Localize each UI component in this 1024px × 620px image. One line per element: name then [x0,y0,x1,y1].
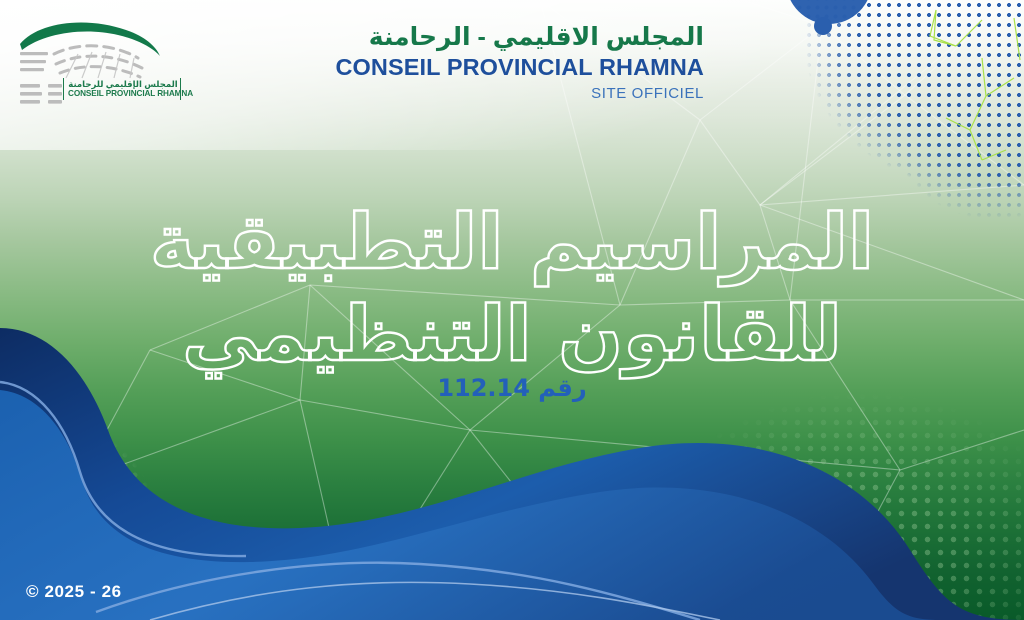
hero-subtitle-law-number: رقم 112.14 [0,374,1024,402]
header-title-block: المجلس الاقليمي - الرحامنة CONSEIL PROVI… [335,22,704,104]
logo-arabic-name: المجلس الإقليمي للرحامنة [68,79,178,89]
copyright-text: © 2025 - 26 [26,582,122,602]
hero-title-line1: المراسيم التطبيقية [0,196,1024,288]
header-title-arabic: المجلس الاقليمي - الرحامنة [335,22,704,52]
logo[interactable]: المجلس الإقليمي للرحامنة CONSEIL PROVINC… [8,14,178,110]
poster-canvas: المجلس الإقليمي للرحامنة CONSEIL PROVINC… [0,0,1024,620]
logo-wordmark: المجلس الإقليمي للرحامنة CONSEIL PROVINC… [63,78,181,100]
hero-title-block: المراسيم التطبيقية للقانون التنظيمي رقم … [0,196,1024,402]
site-header: المجلس الإقليمي للرحامنة CONSEIL PROVINC… [0,0,1024,125]
logo-french-name: CONSEIL PROVINCIAL RHAMNA [68,89,178,99]
hero-title-line2: للقانون التنظيمي [0,288,1024,380]
header-subtitle: SITE OFFICIEL [335,84,704,104]
header-title-french: CONSEIL PROVINCIAL RHAMNA [335,53,704,81]
